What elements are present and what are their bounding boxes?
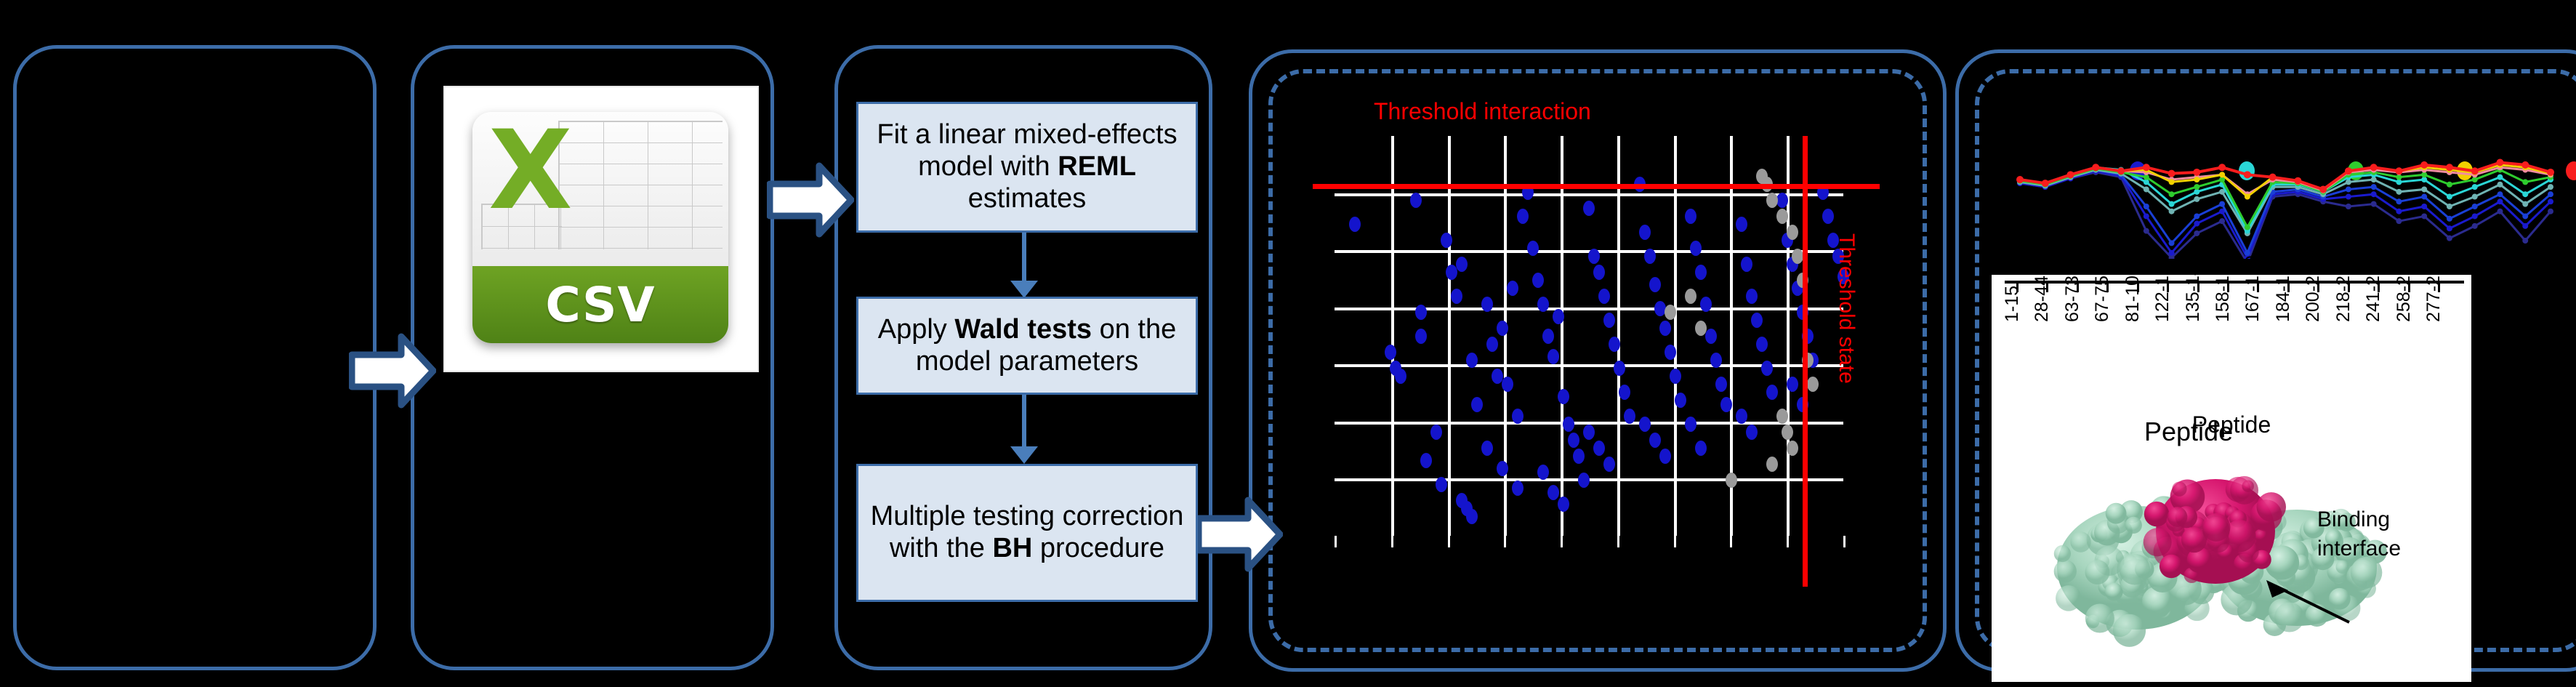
scatter-point — [1700, 297, 1712, 312]
scatter-point — [1456, 257, 1468, 272]
scatter-point — [1420, 453, 1432, 468]
scatter-point — [1578, 473, 1590, 488]
scatter-point — [1624, 409, 1635, 424]
peptide-tick-label: 277-284 — [2423, 255, 2444, 322]
scatter-point — [1385, 345, 1396, 360]
scatter-point — [1766, 385, 1778, 400]
scatter-point — [1537, 297, 1549, 312]
peptide-marker — [2447, 216, 2452, 222]
scatter-point — [1527, 241, 1539, 256]
peptide-marker — [2396, 218, 2402, 224]
peptide-marker — [2144, 213, 2149, 219]
flow-connector-1 — [1022, 233, 1026, 282]
scatter-point — [1685, 209, 1696, 224]
peptide-marker — [2521, 161, 2529, 169]
scatter-point — [1695, 265, 1707, 280]
peptide-tick-label: 135-144 — [2183, 255, 2204, 322]
peptide-marker — [2522, 201, 2528, 207]
flowbox-reml-bold: REML — [1058, 151, 1136, 182]
peptide-marker — [2245, 194, 2250, 200]
scatter-point — [1593, 265, 1605, 280]
peptide-marker — [2472, 213, 2478, 219]
csv-icon-sheet: X — [472, 112, 728, 266]
scatter-axis-tick — [1448, 536, 1450, 547]
flow-arrowhead-2 — [1010, 446, 1038, 464]
scatter-point — [1568, 433, 1579, 448]
peptide-marker — [2396, 198, 2402, 204]
peptide-chart-ytick: 0.0 — [2000, 249, 2031, 273]
peptide-marker — [2421, 186, 2427, 192]
scatter-point — [1603, 457, 1615, 472]
scatter-point — [1670, 369, 1681, 384]
excel-x-icon: X — [488, 116, 573, 225]
scatter-point — [1782, 425, 1793, 440]
peptide-marker — [2346, 204, 2351, 209]
scatter-point — [1619, 385, 1630, 400]
scatter-point — [1558, 497, 1569, 512]
scatter-point — [1349, 217, 1361, 232]
scatter-point — [1486, 337, 1498, 352]
scatter-point — [1690, 241, 1702, 256]
peptide-marker — [2497, 174, 2503, 180]
scatter-point — [1726, 473, 1737, 488]
scatter-point — [1710, 353, 1722, 368]
scatter-point — [1395, 369, 1406, 384]
scatter-point — [1583, 425, 1595, 440]
peptide-marker — [2471, 167, 2479, 174]
flowbox-wald-bold: Wald tests — [954, 314, 1092, 345]
peptide-marker — [2522, 238, 2528, 244]
peptide-tick-label: 167-180 — [2242, 255, 2263, 322]
scatter-axis-tick — [1674, 536, 1676, 547]
scatter-point — [1441, 233, 1452, 248]
peptide-marker — [2522, 179, 2528, 185]
scatter-point — [1746, 425, 1758, 440]
peptide-marker — [2472, 223, 2478, 229]
scatter-point — [1649, 433, 1661, 448]
peptide-marker — [2371, 201, 2377, 207]
threshold-state-line — [1803, 136, 1808, 587]
peptide-marker — [2522, 213, 2528, 219]
scatter-point — [1736, 409, 1747, 424]
peptide-tick-label: 241-257 — [2363, 255, 2384, 322]
peptide-lines-svg — [2003, 142, 2576, 259]
peptide-surface — [2144, 476, 2286, 584]
peptide-marker — [2245, 225, 2250, 230]
scatter-point — [1609, 337, 1620, 352]
threshold-interaction-line — [1313, 184, 1880, 189]
peptide-tick-label: 218-237 — [2333, 255, 2354, 322]
scatter-point — [1517, 209, 1529, 224]
scatter-point — [1746, 289, 1758, 304]
scatter-point — [1787, 377, 1798, 392]
peptide-marker — [2168, 170, 2175, 177]
scatter-point — [1695, 441, 1707, 456]
peptide-marker — [2193, 169, 2200, 176]
peptide-marker — [2144, 228, 2149, 234]
volcano-scatter-plot: Threshold interaction Threshold state — [1308, 91, 1890, 600]
scatter-point — [1471, 397, 1483, 412]
scatter-point — [1547, 349, 1559, 364]
peptide-uptake-chart — [2003, 142, 2576, 259]
peptide-axis-and-protein-card: 0.0 1-1528-4463-7367-7581-101122-129135-… — [1992, 275, 2471, 682]
scatter-point — [1715, 377, 1727, 392]
peptide-marker — [2244, 171, 2251, 178]
scatter-point — [1598, 289, 1610, 304]
peptide-marker — [2396, 209, 2402, 214]
scatter-point — [1720, 397, 1732, 412]
peptide-marker — [2421, 213, 2427, 219]
scatter-point — [1705, 329, 1717, 344]
peptide-marker — [2496, 159, 2503, 166]
peptide-marker — [2169, 191, 2175, 197]
peptide-marker — [2194, 213, 2199, 219]
scatter-point — [1542, 329, 1554, 344]
peptide-marker — [2219, 201, 2225, 207]
peptide-tick-label: 258-266 — [2394, 255, 2415, 322]
scatter-axis-tick — [1335, 536, 1337, 547]
scatter-point — [1766, 193, 1778, 208]
scatter-point — [1497, 321, 1508, 336]
peptide-marker — [2421, 194, 2427, 200]
scatter-point — [1502, 377, 1513, 392]
scatter-point — [1776, 409, 1788, 424]
peptide-marker — [2218, 164, 2226, 171]
peptide-marker — [2144, 186, 2149, 192]
flowbox-bh: Multiple testing correction with the BH … — [856, 464, 1198, 602]
peptide-marker — [2472, 194, 2478, 200]
flowbox-wald: Apply Wald tests on the model parameters — [856, 297, 1198, 395]
scatter-point — [1685, 289, 1696, 304]
scatter-axis-tick — [1391, 536, 1393, 547]
scatter-point — [1741, 257, 1752, 272]
peptide-marker — [2421, 204, 2427, 209]
scatter-point — [1675, 393, 1686, 408]
scatter-point — [1512, 409, 1524, 424]
peptide-marker — [2522, 191, 2528, 197]
binding-interface-label-line2: interface — [2317, 537, 2401, 561]
scatter-point — [1659, 321, 1671, 336]
peptide-marker — [2395, 167, 2402, 174]
scatter-point — [1822, 209, 1834, 224]
arrow-model-to-results — [1196, 494, 1283, 574]
peptide-marker — [2169, 209, 2175, 214]
peptide-marker — [2042, 180, 2049, 187]
peptide-tick-label: 122-129 — [2152, 255, 2173, 322]
scatter-point — [1776, 193, 1788, 208]
peptide-marker — [2370, 164, 2378, 171]
spreadsheet-grid-icon — [558, 121, 723, 249]
scatter-point — [1436, 477, 1447, 492]
scatter-point — [1659, 449, 1671, 464]
scatter-point — [1558, 389, 1569, 404]
peptide-marker — [2447, 225, 2452, 231]
scatter-point — [1466, 509, 1478, 524]
peptide-marker — [2269, 174, 2277, 181]
scatter-point — [1593, 441, 1605, 456]
peptide-tick-label: 184-199 — [2273, 255, 2294, 322]
peptide-tick-label: 28-44 — [2032, 276, 2053, 322]
peptide-tick-label: 1-15 — [2002, 286, 2023, 322]
peptide-marker — [2143, 164, 2150, 171]
peptide-tick-label: 81-101 — [2122, 265, 2144, 322]
peptide-marker — [2522, 223, 2528, 229]
peptide-marker — [2548, 209, 2553, 214]
peptide-marker — [2396, 189, 2402, 195]
peptide-marker — [2294, 177, 2301, 185]
scatter-point — [1507, 281, 1518, 296]
peptide-marker — [2472, 184, 2478, 190]
scatter-point — [1639, 225, 1651, 240]
peptide-marker — [2447, 204, 2452, 209]
flowbox-bh-post: procedure — [1032, 533, 1164, 563]
scatter-point — [1537, 465, 1549, 480]
scatter-point — [1497, 461, 1508, 476]
flowbox-bh-bold: BH — [992, 533, 1032, 563]
peptide-marker — [2194, 230, 2199, 236]
peptide-marker — [2194, 184, 2199, 190]
csv-label: CSV — [545, 277, 655, 333]
peptide-marker — [2117, 167, 2125, 174]
peptide-marker — [2169, 240, 2175, 246]
peptide-marker — [2169, 201, 2175, 207]
scatter-point — [1665, 305, 1676, 320]
scatter-point — [1644, 249, 1656, 264]
scatter-point — [1466, 353, 1478, 368]
scatter-point — [1736, 217, 1747, 232]
peptide-marker — [2548, 191, 2553, 197]
peptide-marker — [2346, 194, 2351, 200]
csv-file-icon: X CSV — [445, 87, 757, 371]
scatter-point — [1776, 209, 1788, 224]
flowbox-wald-pre: Apply — [878, 314, 955, 345]
peptide-marker — [2194, 196, 2199, 202]
scatter-point — [1547, 485, 1559, 500]
peptide-marker — [2472, 204, 2478, 209]
scatter-point — [1481, 441, 1493, 456]
peptide-marker — [2219, 218, 2225, 224]
scatter-point — [1695, 321, 1707, 336]
scatter-point — [1451, 289, 1462, 304]
peptide-marker — [2420, 161, 2428, 169]
scatter-point — [1415, 305, 1427, 320]
flowbox-reml: Fit a linear mixed-effects model with RE… — [856, 102, 1198, 233]
input-panel — [13, 45, 377, 670]
peptide-marker — [2194, 177, 2199, 182]
scatter-point — [1639, 417, 1651, 432]
csv-label-band: CSV — [472, 266, 728, 343]
scatter-point — [1415, 329, 1427, 344]
scatter-point — [1649, 277, 1661, 292]
flow-connector-2 — [1022, 395, 1026, 449]
scatter-axis-tick — [1730, 536, 1732, 547]
peptide-marker — [2447, 182, 2452, 188]
arrow-into-input — [349, 331, 436, 411]
scatter-point — [1787, 225, 1798, 240]
scatter-point — [1807, 377, 1819, 392]
scatter-point — [1553, 309, 1564, 324]
scatter-axis-tick — [1617, 536, 1619, 547]
peptide-marker — [2219, 172, 2225, 177]
flowbox-reml-post: estimates — [968, 183, 1087, 214]
scatter-point — [1766, 457, 1778, 472]
scatter-point — [1410, 193, 1422, 208]
peptide-tick-label: 63-73 — [2062, 276, 2083, 322]
peptide-marker — [2497, 182, 2503, 188]
peptide-marker — [2194, 221, 2199, 227]
scatter-point — [1761, 361, 1773, 376]
peptide-tick-label: 67-75 — [2092, 276, 2113, 322]
scatter-point — [1563, 417, 1574, 432]
scatter-point — [1430, 425, 1442, 440]
peptide-marker — [2371, 184, 2377, 190]
peptide-marker — [2371, 191, 2377, 197]
peptide-marker — [2319, 185, 2327, 193]
scatter-point — [1756, 337, 1768, 352]
scatter-point — [1787, 441, 1798, 456]
peptide-tick-label: 200-214 — [2303, 255, 2324, 322]
peptide-marker — [2497, 198, 2503, 204]
peptide-marker — [2092, 164, 2099, 171]
scatter-point — [1573, 449, 1585, 464]
scatter-point — [1751, 313, 1763, 328]
csv-icon-card: X CSV — [472, 112, 728, 343]
scatter-point — [1792, 249, 1803, 264]
peptide-marker — [2346, 186, 2351, 192]
scatter-point — [1614, 361, 1625, 376]
peptide-marker — [2548, 198, 2553, 204]
scatter-gridline-h — [1335, 308, 1843, 310]
scatter-axis-tick — [1561, 536, 1563, 547]
scatter-axis-tick — [1787, 536, 1789, 547]
peptide-tick-label: 158-166 — [2213, 255, 2234, 322]
threshold-state-label: Threshold state — [1834, 233, 1859, 384]
peptide-marker — [2497, 191, 2503, 197]
scatter-axis-tick — [1843, 536, 1846, 547]
scatter-point — [1532, 273, 1544, 288]
scatter-point — [1665, 345, 1676, 360]
peptide-marker — [2447, 194, 2452, 200]
scatter-point — [1685, 417, 1696, 432]
arrow-csv-to-model — [767, 160, 854, 240]
peptide-marker — [2169, 179, 2175, 185]
peptide-marker — [2067, 171, 2074, 178]
scatter-point — [1583, 201, 1595, 216]
peptide-marker — [2497, 209, 2503, 214]
protein-figure-title: Peptide — [2144, 417, 2233, 446]
binding-interface-label-line1: Binding — [2317, 507, 2390, 531]
peptide-marker — [2016, 176, 2024, 183]
peptide-marker — [2446, 164, 2453, 171]
scatter-point — [1603, 313, 1615, 328]
peptide-marker — [2345, 167, 2352, 174]
peptide-marker — [2144, 204, 2149, 209]
scatter-point — [1588, 249, 1600, 264]
scatter-point — [1481, 297, 1493, 312]
peptide-marker — [2547, 169, 2554, 176]
scatter-plot-area — [1335, 136, 1843, 536]
peptide-marker — [2447, 236, 2452, 241]
peptide-marker — [2548, 184, 2553, 190]
flow-arrowhead-1 — [1010, 281, 1038, 298]
scatter-axis-tick — [1504, 536, 1506, 547]
scatter-point — [1512, 481, 1524, 496]
threshold-interaction-label: Threshold interaction — [1374, 98, 1591, 125]
